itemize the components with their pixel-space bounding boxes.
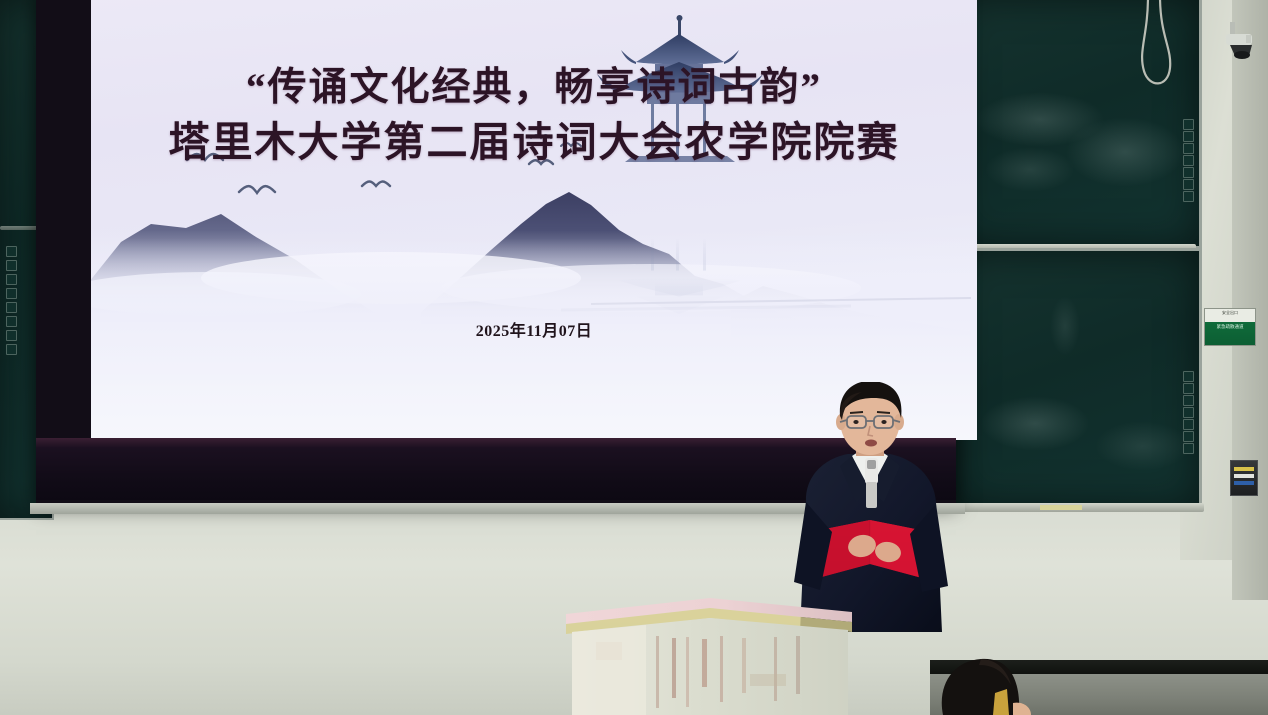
wooden-lectern (560, 592, 860, 715)
emergency-exit-sign: 安全出口 紧急疏散通道 (1204, 308, 1256, 346)
slide-mist-overlay (91, 0, 977, 440)
wall-right-edge (1232, 0, 1268, 600)
slide-surface: “传诵文化经典，畅享诗词古韵” 塔里木大学第二届诗词大会农学院院赛 2025年1… (91, 0, 977, 440)
chalkboard-right-lower (952, 248, 1202, 510)
microphone (865, 458, 878, 508)
audience-member-head (925, 645, 1045, 715)
dome-security-camera (1224, 22, 1258, 62)
hanging-cable (1130, 0, 1210, 116)
wall-mounted-control-box[interactable] (1230, 460, 1258, 496)
exit-sign-top-text: 安全出口 (1207, 310, 1253, 322)
exit-sign-bottom-text: 紧急疏散通道 (1207, 324, 1253, 344)
screenshot-root: “传诵文化经典，畅享诗词古韵” 塔里木大学第二届诗词大会农学院院赛 2025年1… (0, 0, 1268, 715)
chalk-stick (1040, 505, 1082, 510)
